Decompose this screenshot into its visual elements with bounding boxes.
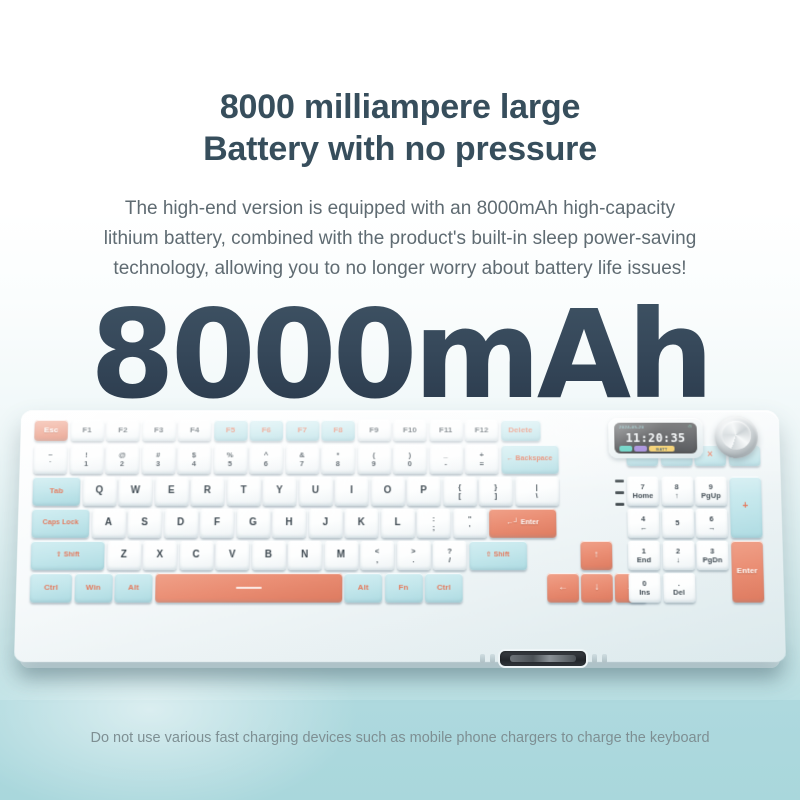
key-legend-bottom: Del (673, 588, 685, 596)
key-l[interactable]: L (381, 509, 415, 538)
key-7[interactable]: &7 (285, 445, 319, 474)
key-j[interactable]: J (308, 509, 342, 538)
key-legend-bottom: [ (458, 492, 461, 500)
key-legend: V (229, 550, 236, 560)
front-vent (602, 654, 607, 663)
key-legend: N (301, 550, 308, 560)
key-9pgup[interactable]: 9PgUp (695, 477, 727, 506)
key-delete[interactable]: Delete (501, 420, 540, 441)
key-legend-top: < (375, 547, 379, 555)
indicator-led (615, 503, 624, 506)
key-n[interactable]: N (288, 541, 322, 570)
key-legend-bottom: = (480, 460, 484, 468)
key-legend-bottom: - (445, 460, 448, 468)
body-line-2: lithium battery, combined with the produ… (52, 224, 748, 254)
front-vent (592, 654, 597, 663)
key-legend-top: & (299, 451, 305, 459)
key-3[interactable]: #3 (141, 445, 175, 474)
footnote-warning: Do not use various fast charging devices… (0, 730, 800, 746)
key-key[interactable]: _- (429, 445, 463, 474)
key-enter[interactable]: ←┘ Enter (489, 509, 557, 538)
key-f3[interactable]: F3 (142, 420, 176, 441)
key-np-plus[interactable]: + (729, 477, 762, 538)
status-chip-1 (619, 446, 632, 452)
key-legend: Ctrl (44, 584, 58, 592)
key-u[interactable]: U (299, 477, 333, 506)
front-vent (480, 654, 485, 663)
key-4[interactable]: $4 (177, 445, 211, 474)
key-shift[interactable]: ⇧ Shift (31, 541, 105, 570)
key-g[interactable]: G (236, 509, 270, 538)
key-legend-top: 2 (676, 547, 680, 555)
keyboard-product-image: EscF1F2F3F4F5F6F7F8F9F10F11F12Delete~`!1… (14, 404, 786, 674)
key-key[interactable]: }] (479, 477, 513, 506)
key-legend: W (131, 486, 141, 496)
front-vent (490, 654, 495, 663)
key-legend-top: * (336, 451, 339, 459)
key-legend-bottom: ; (432, 524, 435, 532)
key-fn[interactable]: Fn (385, 573, 423, 603)
keyboard-case: EscF1F2F3F4F5F6F7F8F9F10F11F12Delete~`!1… (14, 410, 786, 662)
key-legend: Enter (737, 567, 758, 575)
key-legend-top: { (458, 483, 461, 491)
key-legend-bottom: \ (536, 492, 538, 500)
wifi-icon: ⌾ (688, 425, 692, 432)
key-legend-bottom: , (376, 556, 378, 564)
key-legend-top: ? (447, 547, 452, 555)
key-legend-bottom: ↑ (675, 492, 679, 500)
usb-c-port-inner (510, 655, 576, 662)
key-legend: G (249, 518, 257, 528)
key-del[interactable]: .Del (663, 573, 695, 603)
key-x[interactable]: X (143, 541, 177, 570)
key-legend-top: ) (409, 451, 412, 459)
indicator-led (615, 491, 624, 494)
key-legend: Win (86, 584, 101, 592)
key-c[interactable]: C (179, 541, 213, 570)
key-legend: O (384, 486, 392, 496)
key-legend: I (350, 486, 353, 496)
key-e[interactable]: E (154, 477, 188, 506)
key-key[interactable]: "' (453, 509, 487, 538)
key-legend-top: % (227, 451, 234, 459)
key-legend: ↑ (594, 550, 599, 560)
key-legend-bottom: PgDn (703, 556, 723, 564)
key-legend: Fn (399, 584, 409, 592)
key-legend-bottom: 3 (156, 460, 160, 468)
key-legend-top: 4 (641, 515, 645, 523)
key-legend: Q (95, 486, 103, 496)
key-legend: Ctrl (437, 584, 451, 592)
key-legend-top: 0 (642, 580, 646, 588)
key-legend-bottom: ` (49, 460, 52, 468)
key-legend: M (337, 550, 345, 560)
key-arrow-down[interactable]: ↓ (581, 573, 613, 603)
key-legend: X (156, 550, 163, 560)
key-key[interactable]: >. (397, 541, 431, 570)
key-legend-top: ^ (264, 451, 268, 459)
key-o[interactable]: O (371, 477, 405, 506)
screen-status-chips: BATT (619, 446, 674, 452)
key-legend-top: 3 (710, 547, 714, 555)
key-f12[interactable]: F12 (465, 420, 499, 441)
key-caps-lock[interactable]: Caps Lock (31, 509, 89, 538)
key-legend: Alt (128, 584, 139, 592)
key-f1[interactable]: F1 (70, 420, 104, 441)
key-0[interactable]: )0 (393, 445, 427, 474)
key-key[interactable] (155, 573, 342, 603)
key-legend: F10 (403, 426, 417, 434)
key-legend: ⇧ Shift (486, 552, 510, 559)
key-legend: F3 (154, 426, 164, 434)
key-p[interactable]: P (407, 477, 441, 506)
key-legend-top: + (479, 451, 483, 459)
key-key[interactable]: ~` (33, 445, 67, 474)
key-legend-top: } (494, 483, 497, 491)
key-legend-top: $ (192, 451, 196, 459)
body-copy: The high-end version is equipped with an… (52, 194, 748, 284)
key-7home[interactable]: 7Home (627, 477, 659, 506)
key-np-enter[interactable]: Enter (730, 541, 763, 603)
key-z[interactable]: Z (107, 541, 141, 570)
key-f2[interactable]: F2 (106, 420, 140, 441)
key-2[interactable]: 2↓ (662, 541, 694, 570)
key-legend-top: 8 (675, 483, 679, 491)
key-legend: T (240, 486, 246, 496)
key-legend: + (742, 502, 748, 512)
key-5[interactable]: %5 (213, 445, 247, 474)
key-legend-bottom: 8 (336, 460, 340, 468)
key-h[interactable]: H (272, 509, 306, 538)
key-legend: ⇧ Shift (56, 552, 80, 559)
key-8[interactable]: 8↑ (661, 477, 693, 506)
indicator-led (615, 480, 624, 483)
key-f6[interactable]: F6 (250, 420, 284, 441)
key-legend: L (394, 518, 400, 528)
key-arrow-left[interactable]: ← (547, 573, 579, 603)
key-f8[interactable]: F8 (321, 420, 355, 441)
key-alt[interactable]: Alt (114, 573, 152, 603)
key-legend: B (265, 550, 272, 560)
key-legend-top: . (678, 580, 680, 588)
key-q[interactable]: Q (82, 477, 116, 506)
key-legend-bottom: Ins (639, 588, 650, 596)
key-legend: F9 (369, 426, 378, 434)
key-f7[interactable]: F7 (285, 420, 319, 441)
key-4[interactable]: 4← (627, 509, 659, 538)
key-8[interactable]: *8 (321, 445, 355, 474)
key-key[interactable]: += (465, 445, 499, 474)
key-legend: ← (558, 583, 568, 593)
key-legend-bottom: ← (640, 524, 648, 532)
key-backspace[interactable]: ← Backspace (501, 445, 558, 474)
key-legend-bottom: ↓ (676, 556, 680, 564)
key-legend: Alt (358, 584, 369, 592)
key-key[interactable]: |\ (515, 477, 559, 506)
key-legend: D (177, 518, 184, 528)
key-i[interactable]: I (335, 477, 369, 506)
key-v[interactable]: V (215, 541, 249, 570)
key-legend-top: _ (444, 451, 448, 459)
key-y[interactable]: Y (263, 477, 297, 506)
key-legend-bottom: End (637, 556, 652, 564)
volume-knob[interactable] (714, 416, 758, 458)
key-2[interactable]: @2 (105, 445, 139, 474)
key-legend: F1 (82, 426, 92, 434)
key-legend-bottom: 5 (228, 460, 232, 468)
key-key[interactable]: :; (417, 509, 451, 538)
key-legend: P (420, 486, 427, 496)
headline-line-2: Battery with no pressure (0, 128, 800, 170)
key-legend: F5 (226, 426, 235, 434)
key-1end[interactable]: 1End (628, 541, 660, 570)
key-k[interactable]: K (345, 509, 379, 538)
key-s[interactable]: S (128, 509, 162, 538)
key-legend: C (192, 550, 199, 560)
key-a[interactable]: A (91, 509, 125, 538)
key-legend: U (312, 486, 319, 496)
spacebar-marker (235, 587, 261, 589)
key-b[interactable]: B (252, 541, 286, 570)
lcd-screen: 2024-05-20 ⌾ 11:20:35 BATT (614, 423, 697, 454)
key-tab[interactable]: Tab (32, 477, 80, 506)
key-legend-bottom: 2 (120, 460, 124, 468)
key-legend-bottom: 1 (84, 460, 88, 468)
key-legend-top: " (468, 515, 472, 523)
key-3pgdn[interactable]: 3PgDn (696, 541, 728, 570)
key-t[interactable]: T (227, 477, 261, 506)
key-legend-bottom: 7 (300, 460, 304, 468)
key-legend: F6 (262, 426, 271, 434)
knob-top-surface (721, 421, 751, 450)
key-legend: ← Backspace (506, 456, 552, 463)
key-legend-bottom: 0 (408, 460, 412, 468)
key-f[interactable]: F (200, 509, 234, 538)
lcd-screen-module: 2024-05-20 ⌾ 11:20:35 BATT (608, 418, 703, 458)
key-legend: K (358, 518, 365, 528)
body-line-1: The high-end version is equipped with an… (52, 194, 748, 224)
key-legend-top: 5 (675, 519, 679, 527)
key-legend: Esc (44, 426, 59, 434)
key-legend: H (285, 518, 292, 528)
key-key[interactable]: <, (360, 541, 394, 570)
key-f5[interactable]: F5 (214, 420, 248, 441)
key-0ins[interactable]: 0Ins (628, 573, 660, 603)
key-legend: F2 (118, 426, 128, 434)
key-legend: A (105, 518, 112, 528)
key-legend: Tab (49, 487, 63, 495)
key-legend-bottom: ] (494, 492, 497, 500)
key-m[interactable]: M (324, 541, 358, 570)
key-legend: S (141, 518, 148, 528)
key-legend-top: : (432, 515, 435, 523)
key-legend-top: 6 (709, 515, 713, 523)
key-legend-bottom: PgUp (701, 492, 721, 500)
key-9[interactable]: (9 (357, 445, 391, 474)
key-w[interactable]: W (118, 477, 152, 506)
key-ctrl[interactable]: Ctrl (30, 573, 73, 603)
screen-time: 11:20:35 (614, 431, 697, 444)
key-f4[interactable]: F4 (178, 420, 212, 441)
key-legend: F11 (439, 426, 452, 434)
key-d[interactable]: D (164, 509, 198, 538)
key-win[interactable]: Win (74, 573, 112, 603)
key-legend: E (168, 486, 175, 496)
key-legend-top: > (411, 547, 415, 555)
key-legend-bottom: ' (469, 524, 471, 532)
body-line-3: technology, allowing you to no longer wo… (52, 254, 748, 284)
key-legend: F4 (190, 426, 200, 434)
key-key[interactable]: ?/ (433, 541, 467, 570)
screen-top-label: 2024-05-20 (619, 425, 644, 430)
key-legend: ↓ (594, 583, 599, 593)
key-legend: R (204, 486, 211, 496)
key-legend: × (707, 450, 713, 460)
key-f9[interactable]: F9 (357, 420, 390, 441)
key-legend-top: ! (85, 451, 88, 459)
key-f10[interactable]: F10 (393, 420, 426, 441)
key-legend: Y (276, 486, 283, 496)
key-legend-bottom: 6 (264, 460, 268, 468)
key-1[interactable]: !1 (69, 445, 103, 474)
status-chip-battery: BATT (649, 446, 675, 452)
key-legend-bottom: / (449, 556, 451, 564)
usb-c-port (500, 651, 586, 666)
key-arrow-up[interactable]: ↑ (580, 541, 612, 570)
headline-line-1: 8000 milliampere large (0, 86, 800, 128)
key-legend-top: | (536, 483, 538, 491)
key-legend: F8 (333, 426, 342, 434)
key-legend: Caps Lock (43, 520, 79, 527)
key-legend-bottom: 9 (372, 460, 376, 468)
status-chip-2 (634, 446, 647, 452)
key-legend-bottom: → (708, 524, 716, 532)
key-legend-top: # (156, 451, 160, 459)
key-legend-top: ( (373, 451, 376, 459)
key-legend: Z (121, 550, 127, 560)
key-legend-top: @ (119, 451, 126, 459)
key-ctrl[interactable]: Ctrl (425, 573, 463, 603)
key-legend-bottom: Home (632, 492, 653, 500)
key-legend: ←┘ Enter (507, 520, 539, 527)
key-f11[interactable]: F11 (429, 420, 462, 441)
key-esc[interactable]: Esc (34, 420, 68, 441)
key-r[interactable]: R (190, 477, 224, 506)
key-legend-top: 1 (642, 547, 646, 555)
key-legend-top: 7 (641, 483, 645, 491)
key-legend: J (322, 518, 328, 528)
key-shift[interactable]: ⇧ Shift (469, 541, 527, 570)
key-legend: F (214, 518, 220, 528)
key-key[interactable]: {[ (443, 477, 477, 506)
key-5[interactable]: 5 (661, 509, 693, 538)
key-legend-bottom: 4 (192, 460, 196, 468)
key-legend: F7 (298, 426, 307, 434)
product-marketing-page: 8000 milliampere large Battery with no p… (0, 0, 800, 800)
key-legend-top: ~ (48, 451, 53, 459)
key-legend-top: 9 (709, 483, 713, 491)
key-legend: Delete (508, 426, 532, 434)
key-6[interactable]: 6→ (696, 509, 728, 538)
key-6[interactable]: ^6 (249, 445, 283, 474)
key-legend-bottom: . (412, 556, 414, 564)
key-legend: F12 (475, 426, 489, 434)
hero-capacity-number: 8000mAh (0, 294, 800, 416)
key-alt[interactable]: Alt (344, 573, 382, 603)
page-headline: 8000 milliampere large Battery with no p… (0, 86, 800, 170)
